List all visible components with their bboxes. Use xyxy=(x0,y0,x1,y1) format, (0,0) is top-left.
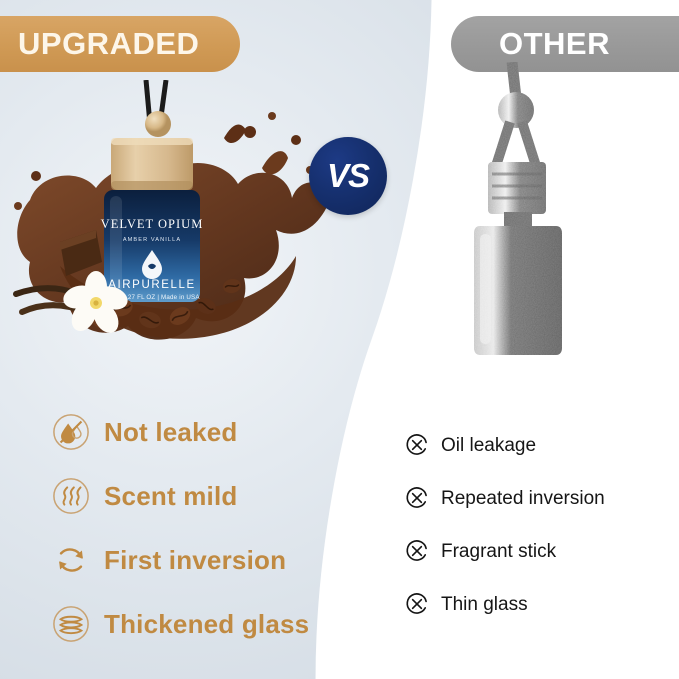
upgraded-badge-label: UPGRADED xyxy=(18,26,199,62)
feature-label: Repeated inversion xyxy=(441,489,605,508)
upgraded-feature-list: Not leaked Scent mild xyxy=(52,404,342,660)
circle-x-icon xyxy=(404,485,430,511)
feature-label: Fragrant stick xyxy=(441,542,556,561)
circle-x-icon xyxy=(404,591,430,617)
feature-row-scent-mild: Scent mild xyxy=(52,468,342,523)
wood-cap-icon xyxy=(111,138,193,190)
product-scent: AMBER VANILLA xyxy=(123,237,181,243)
feature-row-thickened-glass: Thickened glass xyxy=(52,596,342,651)
feature-row-first-inversion: First inversion xyxy=(52,532,342,587)
feature-label: First inversion xyxy=(104,547,286,573)
feature-label: Scent mild xyxy=(104,483,237,509)
feature-row-fragrant-stick: Fragrant stick xyxy=(404,530,670,572)
circle-x-icon xyxy=(404,538,430,564)
other-feature-list: Oil leakage Repeated inversion Fragrant … xyxy=(404,424,670,636)
layered-glass-icon xyxy=(52,605,90,643)
wood-bead-hanger-icon xyxy=(145,80,171,137)
other-badge-label: OTHER xyxy=(499,26,610,62)
circle-x-icon xyxy=(404,432,430,458)
feature-row-oil-leakage: Oil leakage xyxy=(404,424,670,466)
feature-label: Thin glass xyxy=(441,595,528,614)
other-product-artwork xyxy=(430,62,630,372)
feature-label: Not leaked xyxy=(104,419,238,445)
feature-row-thin-glass: Thin glass xyxy=(404,583,670,625)
comparison-infographic: VELVET OPIUM AMBER VANILLA AIRPURELLE 8M… xyxy=(0,0,679,679)
brand-name: AIRPURELLE xyxy=(108,279,196,291)
product-bottle-icon: VELVET OPIUM AMBER VANILLA AIRPURELLE 8M… xyxy=(101,190,204,302)
feature-label: Oil leakage xyxy=(441,436,536,455)
upgraded-badge: UPGRADED xyxy=(0,16,240,72)
upgraded-product-artwork: VELVET OPIUM AMBER VANILLA AIRPURELLE 8M… xyxy=(0,80,340,380)
product-name: VELVET OPIUM xyxy=(101,217,204,231)
cord-bead-hanger-icon xyxy=(496,62,536,166)
scent-waves-icon xyxy=(52,477,90,515)
vs-badge: VS xyxy=(309,137,387,215)
vs-label: VS xyxy=(327,157,369,195)
generic-bottle-silhouette-icon xyxy=(474,162,562,355)
single-rotation-icon xyxy=(52,541,90,579)
feature-label: Thickened glass xyxy=(104,611,309,637)
no-leak-icon xyxy=(52,413,90,451)
feature-row-not-leaked: Not leaked xyxy=(52,404,342,459)
feature-row-repeated-inversion: Repeated inversion xyxy=(404,477,670,519)
